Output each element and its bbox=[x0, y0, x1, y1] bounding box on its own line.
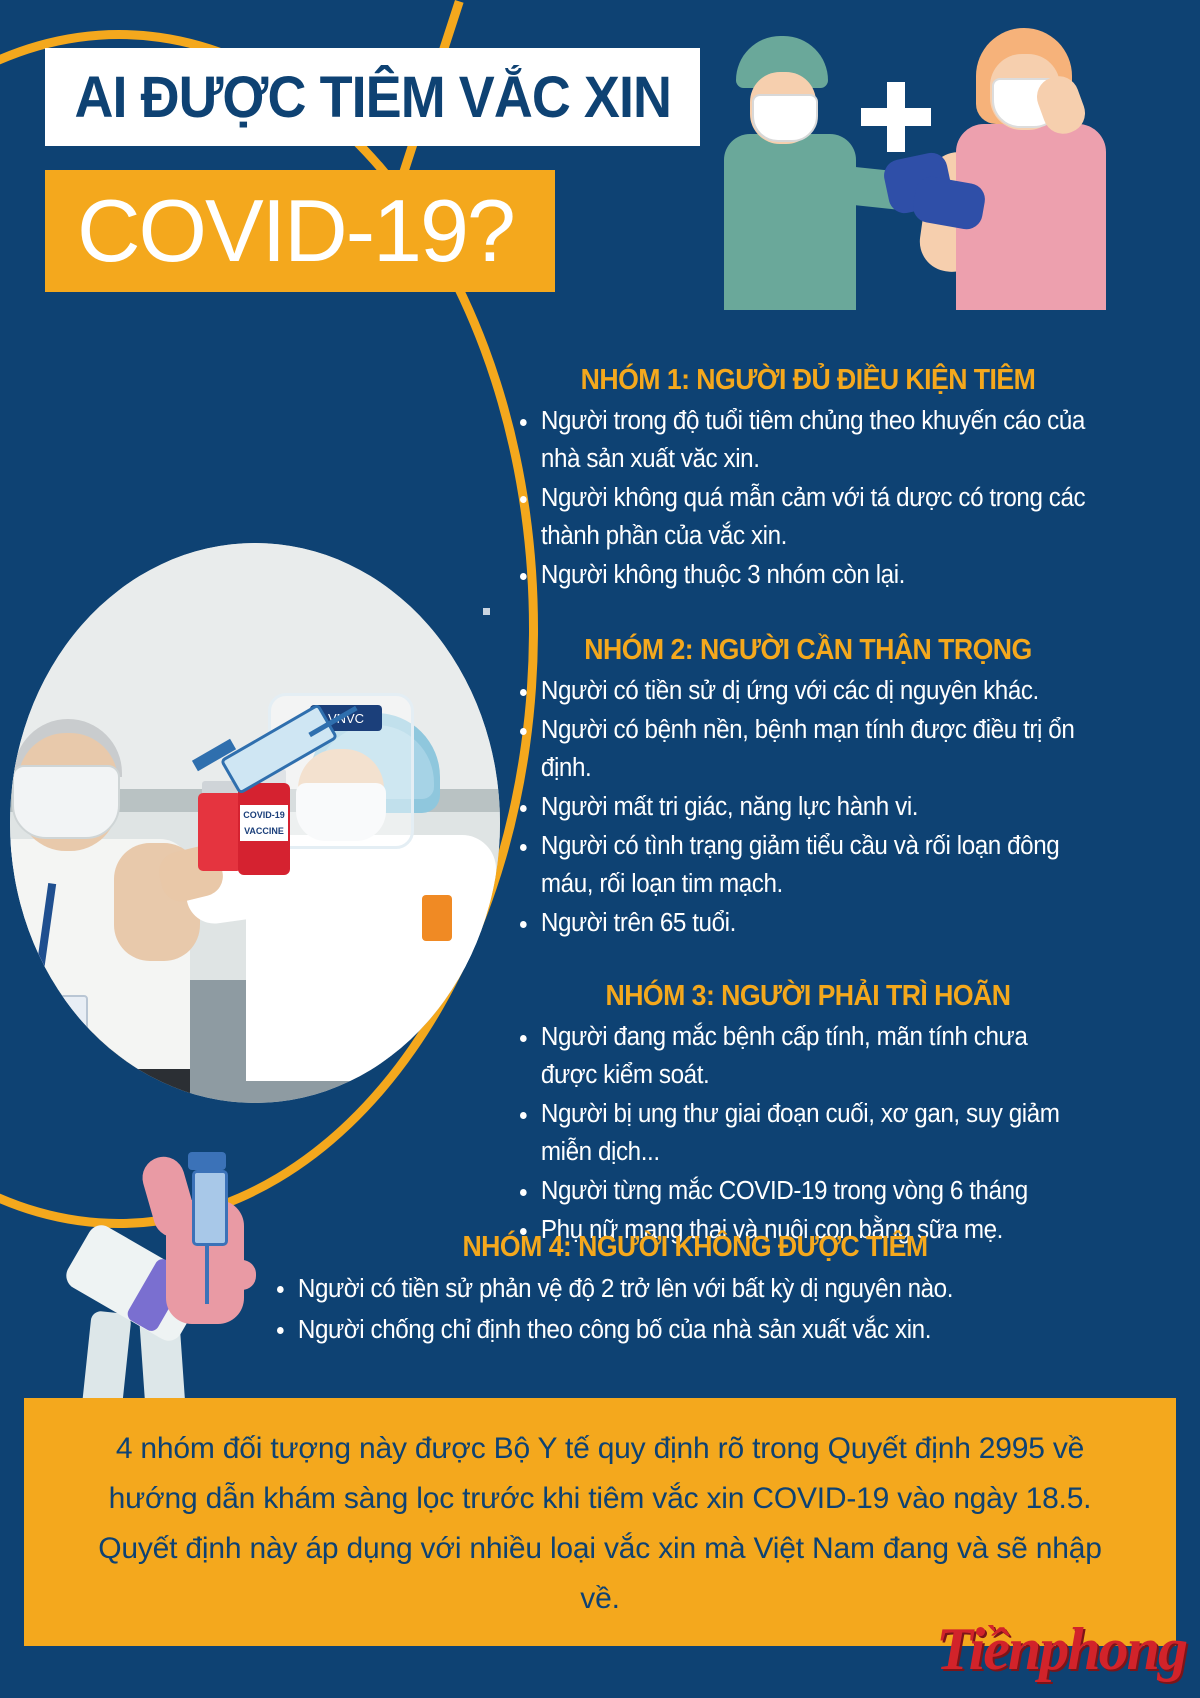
group-1-heading: NHÓM 1: NGƯỜI ĐỦ ĐIỀU KIỆN TIÊM bbox=[523, 364, 1093, 397]
list-item: Người có tiền sử phản vệ độ 2 trở lên vớ… bbox=[277, 1269, 1092, 1309]
list-item: Người từng mắc COVID-19 trong vòng 6 thá… bbox=[520, 1172, 1088, 1210]
syringe-barrel-icon bbox=[192, 1170, 228, 1246]
group-2-heading: NHÓM 2: NGƯỜI CẦN THẬN TRỌNG bbox=[523, 634, 1093, 667]
list-item: Người chống chỉ định theo công bố của nh… bbox=[277, 1310, 1092, 1350]
syringe-plunger-icon bbox=[188, 1152, 226, 1170]
groups-content: NHÓM 1: NGƯỜI ĐỦ ĐIỀU KIỆN TIÊM Người tr… bbox=[498, 364, 1118, 1255]
photo-vial-label: COVID-19 VACCINE bbox=[240, 805, 288, 841]
list-item: Người trong độ tuổi tiêm chủng theo khuy… bbox=[520, 402, 1088, 478]
page-title-line1-text: AI ĐƯỢC TIÊM VẮC XIN bbox=[74, 64, 671, 131]
group-3: NHÓM 3: NGƯỜI PHẢI TRÌ HOÃN Người đang m… bbox=[498, 980, 1118, 1249]
page-title-line1: AI ĐƯỢC TIÊM VẮC XIN bbox=[45, 48, 700, 146]
list-item: Người đang mắc bệnh cấp tính, mãn tính c… bbox=[520, 1018, 1088, 1094]
infographic-page: AI ĐƯỢC TIÊM VẮC XIN COVID-19? bbox=[0, 0, 1200, 1698]
list-item: Người có tiền sử dị ứng với các dị nguyê… bbox=[520, 672, 1088, 710]
group-3-list: Người đang mắc bệnh cấp tính, mãn tính c… bbox=[498, 1018, 1118, 1249]
syringe-needle-icon bbox=[205, 1240, 209, 1304]
medical-cross-icon bbox=[861, 82, 931, 152]
footer-note-box: 4 nhóm đối tượng này được Bộ Y tế quy đị… bbox=[24, 1398, 1176, 1646]
photo-vial-label-line2: VACCINE bbox=[240, 821, 288, 837]
list-item: Người không quá mẫn cảm với tá dược có t… bbox=[520, 479, 1088, 555]
nurse-body bbox=[724, 134, 856, 310]
photo-patient-mask-icon bbox=[12, 765, 120, 839]
group-1: NHÓM 1: NGƯỜI ĐỦ ĐIỀU KIỆN TIÊM Người tr… bbox=[498, 364, 1118, 594]
group-2-list: Người có tiền sử dị ứng với các dị nguyê… bbox=[498, 672, 1118, 942]
vaccination-illustration bbox=[718, 20, 1188, 310]
nurse-face-mask-icon bbox=[752, 94, 818, 142]
list-item: Người không thuộc 3 nhóm còn lại. bbox=[520, 556, 1088, 594]
group-2: NHÓM 2: NGƯỜI CẦN THẬN TRỌNG Người có ti… bbox=[498, 634, 1118, 942]
group-3-heading: NHÓM 3: NGƯỜI PHẢI TRÌ HOÃN bbox=[523, 980, 1093, 1013]
illustration-finger bbox=[220, 1260, 256, 1290]
list-item: Người có bệnh nền, bệnh mạn tính được đi… bbox=[520, 711, 1088, 787]
group-4-list: Người có tiền sử phản vệ độ 2 trở lên vớ… bbox=[255, 1269, 1135, 1350]
photo-vaccine-vial-a bbox=[198, 793, 242, 871]
list-item: Người trên 65 tuổi. bbox=[520, 904, 1088, 942]
page-title-line2: COVID-19? bbox=[45, 170, 555, 292]
photo-nurse-logo bbox=[422, 895, 452, 941]
group-4-heading: NHÓM 4: NGƯỜI KHÔNG ĐƯỢC TIÊM bbox=[290, 1231, 1100, 1264]
page-title-line2-text: COVID-19? bbox=[77, 180, 514, 282]
spacer-2 bbox=[498, 948, 1118, 980]
vaccination-photo: VNVC COVID-19 VACCINE bbox=[10, 543, 500, 1103]
list-item: Người có tình trạng giảm tiểu cầu và rối… bbox=[520, 827, 1088, 903]
list-item: Người mất tri giác, năng lực hành vi. bbox=[520, 788, 1088, 826]
photo-vial-label-line1: COVID-19 bbox=[240, 805, 288, 821]
spacer-1 bbox=[498, 600, 1118, 634]
tienphong-logo: Tiềnphong bbox=[936, 1615, 1186, 1684]
group-4: NHÓM 4: NGƯỜI KHÔNG ĐƯỢC TIÊM Người có t… bbox=[255, 1231, 1135, 1351]
photo-patient-id-badge bbox=[18, 995, 88, 1047]
list-item: Người bị ung thư giai đoạn cuối, xơ gan,… bbox=[520, 1095, 1088, 1171]
footer-note-text: 4 nhóm đối tượng này được Bộ Y tế quy đị… bbox=[84, 1424, 1116, 1624]
group-1-list: Người trong độ tuổi tiêm chủng theo khuy… bbox=[498, 402, 1118, 594]
